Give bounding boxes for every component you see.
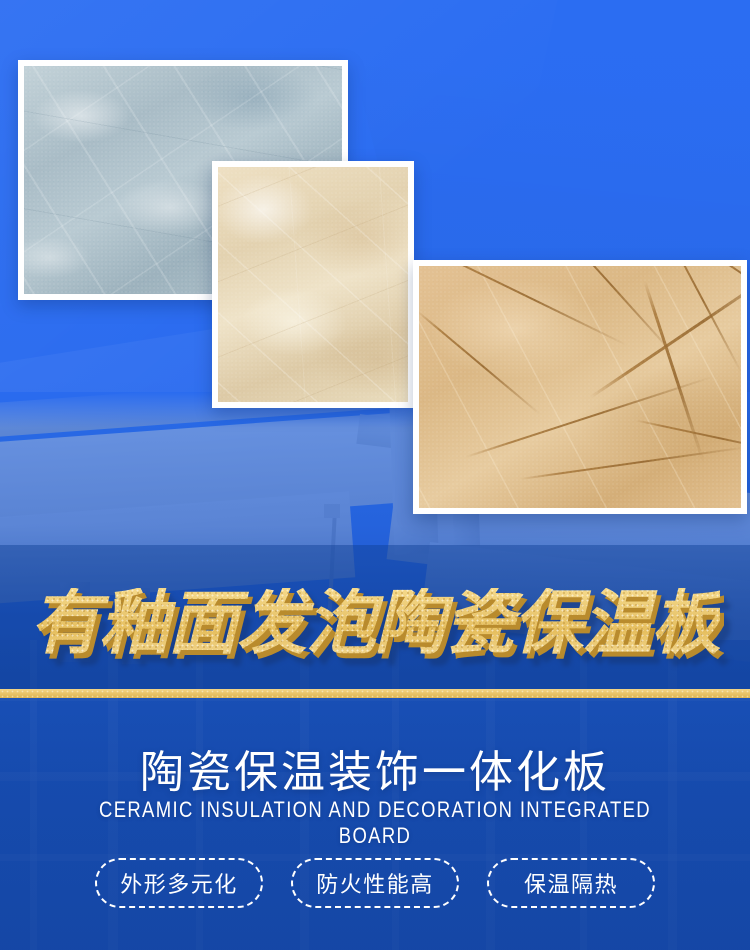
- tile-swatch-cream-travertine[interactable]: [212, 161, 414, 408]
- headline-container: 有釉面发泡陶瓷保温板: [0, 588, 750, 658]
- feature-tag-shape-variety[interactable]: 外形多元化: [95, 858, 263, 908]
- tile-swatch-sand-marble[interactable]: [413, 260, 747, 514]
- travertine-speckle-layer: [218, 167, 408, 402]
- feature-tag-thermal-insulation[interactable]: 保温隔热: [487, 858, 655, 908]
- product-headline: 有釉面发泡陶瓷保温板: [30, 588, 720, 658]
- feature-tag-label: 外形多元化: [120, 867, 238, 899]
- subtitle-chinese: 陶瓷保温装饰一体化板: [0, 736, 750, 800]
- subtitle-english: CERAMIC INSULATION AND DECORATION INTEGR…: [60, 797, 690, 849]
- tile-face-sand-marble: [419, 266, 741, 508]
- feature-tag-fire-resistance[interactable]: 防火性能高: [291, 858, 459, 908]
- gold-divider-rule: [0, 689, 750, 698]
- feature-tag-list: 外形多元化 防火性能高 保温隔热: [0, 858, 750, 908]
- tile-face-cream-travertine: [218, 167, 408, 402]
- feature-tag-label: 防火性能高: [316, 867, 434, 899]
- feature-tag-label: 保温隔热: [524, 867, 618, 899]
- product-banner: 有釉面发泡陶瓷保温板 陶瓷保温装饰一体化板 CERAMIC INSULATION…: [0, 0, 750, 950]
- sand-marble-speckle-layer: [419, 266, 741, 508]
